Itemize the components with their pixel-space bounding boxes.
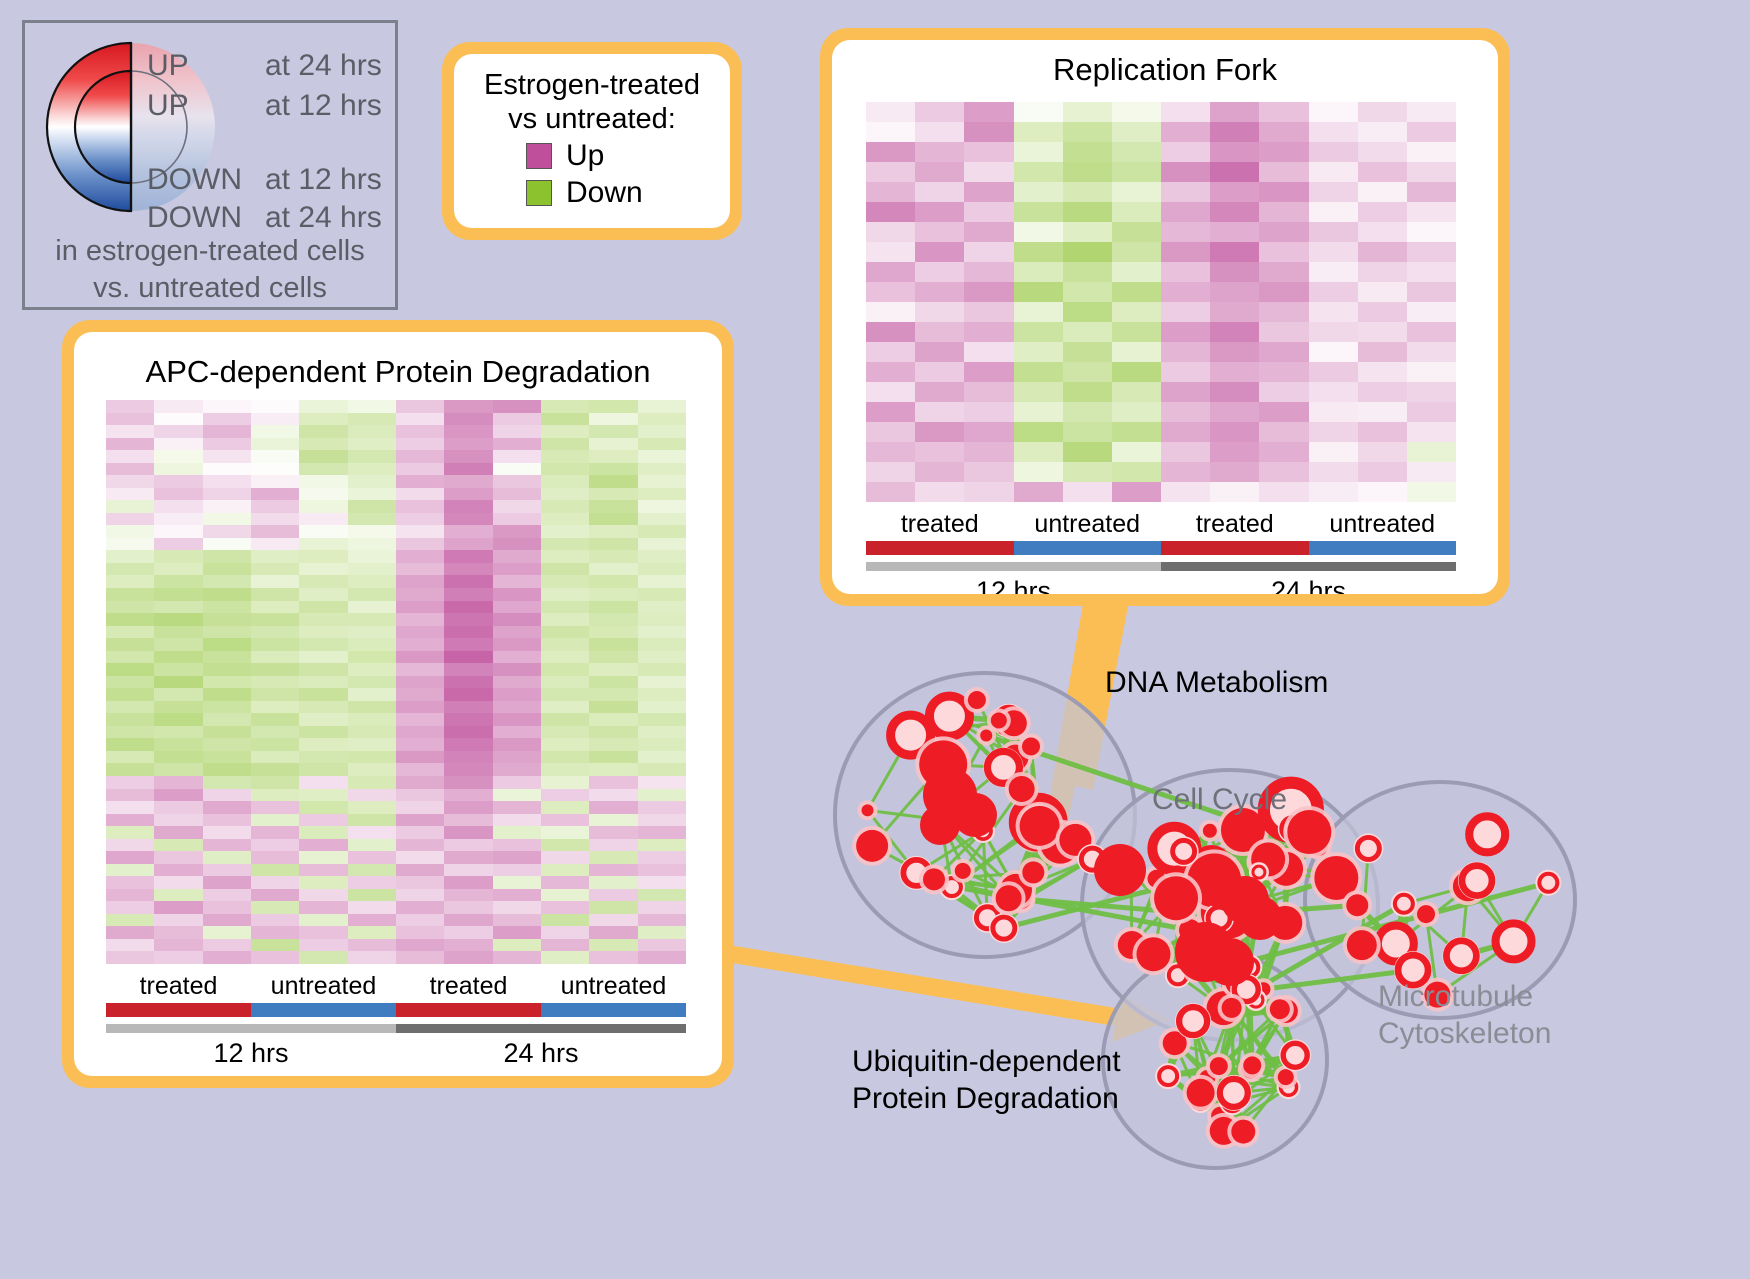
heatmap-cell [493,463,541,476]
heatmap-cell [493,575,541,588]
heatmap-cell [1014,442,1063,462]
heatmap-cell [299,676,347,689]
heatmap-cell [444,663,492,676]
heatmap-cell [1309,122,1358,142]
heatmap-cell [154,651,202,664]
network-node [923,868,945,890]
heatmap-cell [1407,142,1456,162]
heatmap-cell [106,450,154,463]
heatmap-cell [638,939,686,952]
heatmap-cell [915,102,964,122]
heatmap-cell [348,926,396,939]
heatmap-cell [638,438,686,451]
heatmap-cell [866,242,915,262]
network-node [1136,937,1170,971]
heatmap-cell [1358,122,1407,142]
heatmap-cell [1161,282,1210,302]
heatmap-cell [589,663,637,676]
heatmap-cell [541,801,589,814]
heatmap-cell [1309,222,1358,242]
heatmap-cell [541,626,589,639]
heatmap-cell [589,789,637,802]
heatmap-cell [1407,182,1456,202]
heatmap-cell [493,488,541,501]
heatmap-cell [348,588,396,601]
network-node [1347,930,1377,960]
heatmap-cell [106,651,154,664]
heatmap-cell [541,500,589,513]
heatmap-cell [541,425,589,438]
heatmap-cell [1112,482,1161,502]
heatmap-cell [638,413,686,426]
heatmap-cell [638,713,686,726]
heatmap-cell [396,814,444,827]
heatmap-cell [1407,122,1456,142]
heatmap-cell [251,525,299,538]
heatmap-cell [299,726,347,739]
heatmap-cell [1063,342,1112,362]
heatmap-cell [1309,262,1358,282]
heatmap-cell [203,651,251,664]
heatmap-cell [396,801,444,814]
heatmap-cell [866,102,915,122]
heatmap-cell [1014,102,1063,122]
heatmap-cell [396,425,444,438]
heatmap-cell [638,951,686,964]
heatmap-cell [203,876,251,889]
heatmap-cell [964,122,1013,142]
heatmap-cell [106,438,154,451]
heatmap-cell [251,939,299,952]
heatmap-cell [106,738,154,751]
heatmap-cell [396,575,444,588]
heatmap-cell [299,588,347,601]
heatmap-cell [299,776,347,789]
heatmap-cell [541,951,589,964]
heatmap-cell [251,601,299,614]
heatmap-cell [348,951,396,964]
heatmap-cell [1259,322,1308,342]
heatmap-cell [203,425,251,438]
heatmap-cell [106,575,154,588]
heatmap-cell [964,222,1013,242]
heatmap-cell [203,438,251,451]
heatmap-cell [203,613,251,626]
heatmap-cell [964,262,1013,282]
replication-fork-time-bars [866,562,1456,571]
heatmap-cell [493,826,541,839]
heatmap-cell [106,751,154,764]
down-label: Down [566,176,643,210]
heatmap-cell [299,751,347,764]
heatmap-cell [106,626,154,639]
heatmap-cell [203,475,251,488]
heatmap-cell [251,463,299,476]
heatmap-cell [396,400,444,413]
heatmap-cell [541,475,589,488]
group-bar-treated-24 [1161,541,1309,555]
heatmap-cell [493,713,541,726]
heatmap-cell [493,425,541,438]
key-title-line1: Estrogen-treated [454,68,730,102]
heatmap-cell [203,839,251,852]
heatmap-cell [493,776,541,789]
heatmap-cell [203,926,251,939]
heatmap-cell [1407,202,1456,222]
heatmap-cell [541,851,589,864]
heatmap-cell [1259,162,1308,182]
heatmap-cell [203,550,251,563]
heatmap-cell [203,450,251,463]
heatmap-cell [493,588,541,601]
heatmap-cell [348,575,396,588]
heatmap-cell [1014,262,1063,282]
network-node [1346,894,1368,916]
group-label: untreated [251,972,396,1001]
heatmap-cell [251,488,299,501]
heatmap-cell [444,876,492,889]
heatmap-cell [541,839,589,852]
heatmap-cell [866,222,915,242]
heatmap-cell [493,638,541,651]
group-label: untreated [1309,510,1457,539]
heatmap-cell [493,626,541,639]
heatmap-cell [106,550,154,563]
heatmap-cell [396,413,444,426]
heatmap-cell [203,676,251,689]
heatmap-cell [1112,242,1161,262]
group-bar-treated-12 [866,541,1014,555]
heatmap-cell [348,851,396,864]
heatmap-cell [1309,482,1358,502]
heatmap-cell [493,889,541,902]
heatmap-cell [1358,322,1407,342]
replication-fork-group-bars [866,541,1456,555]
key-item-up: Up [526,139,730,173]
heatmap-cell [106,826,154,839]
heatmap-cell [1161,182,1210,202]
heatmap-cell [251,676,299,689]
network-node [1243,1056,1261,1074]
heatmap-cell [348,914,396,927]
heatmap-cell [1112,102,1161,122]
heatmap-cell [1014,302,1063,322]
heatmap-cell [541,926,589,939]
heatmap-cell [1161,322,1210,342]
heatmap-cell [541,488,589,501]
heatmap-cell [444,738,492,751]
heatmap-cell [444,864,492,877]
heatmap-cell [203,763,251,776]
heatmap-cell [638,613,686,626]
heatmap-cell [1358,342,1407,362]
heatmap-cell [348,789,396,802]
cluster-label-dna-metabolism: DNA Metabolism [1105,665,1328,702]
heatmap-cell [1358,302,1407,322]
heatmap-cell [1112,122,1161,142]
heatmap-cell [251,814,299,827]
heatmap-cell [396,701,444,714]
heatmap-cell [444,701,492,714]
heatmap-cell [638,538,686,551]
heatmap-cell [589,500,637,513]
heatmap-cell [396,438,444,451]
heatmap-cell [444,789,492,802]
heatmap-cell [348,901,396,914]
network-node [1022,861,1044,883]
heatmap-cell [493,751,541,764]
heatmap-cell [1259,122,1308,142]
heatmap-cell [964,242,1013,262]
heatmap-cell [299,814,347,827]
heatmap-cell [1161,382,1210,402]
heatmap-cell [154,738,202,751]
heatmap-cell [493,651,541,664]
heatmap-cell [541,400,589,413]
heatmap-cell [493,400,541,413]
heatmap-cell [1407,362,1456,382]
heatmap-cell [589,563,637,576]
heatmap-cell [106,839,154,852]
heatmap-cell [251,538,299,551]
heatmap-cell [348,488,396,501]
legend-key-up-24: UP [147,49,265,83]
heatmap-cell [589,776,637,789]
heatmap-cell [1407,402,1456,422]
heatmap-cell [154,839,202,852]
heatmap-cell [396,676,444,689]
heatmap-cell [1014,162,1063,182]
heatmap-cell [1063,362,1112,382]
legend-row-up-24: UPat 24 hrs [147,49,382,83]
heatmap-cell [154,538,202,551]
heatmap-cell [203,463,251,476]
heatmap-cell [866,442,915,462]
heatmap-cell [106,563,154,576]
heatmap-cell [106,676,154,689]
heatmap-cell [251,688,299,701]
heatmap-cell [541,638,589,651]
heatmap-cell [915,362,964,382]
heatmap-cell [154,575,202,588]
heatmap-cell [154,789,202,802]
heatmap-cell [1407,282,1456,302]
heatmap-cell [203,814,251,827]
heatmap-cell [589,413,637,426]
heatmap-cell [1309,402,1358,422]
heatmap-cell [299,651,347,664]
up-label: Up [566,139,604,173]
heatmap-cell [203,601,251,614]
heatmap-cell [106,701,154,714]
heatmap-cell [493,814,541,827]
group-bar-untreated-12 [251,1003,396,1017]
heatmap-cell [444,463,492,476]
key-title-line2: vs untreated: [454,102,730,136]
heatmap-cell [541,726,589,739]
heatmap-cell [866,462,915,482]
heatmap-cell [444,839,492,852]
heatmap-cell [299,914,347,927]
legend-time-up-12: at 12 hrs [265,89,382,122]
heatmap-cell [1358,362,1407,382]
heatmap-cell [154,889,202,902]
heatmap-cell [299,713,347,726]
heatmap-cell [348,776,396,789]
time-bar-12hrs [106,1024,396,1033]
heatmap-cell [493,864,541,877]
heatmap-cell [203,663,251,676]
heatmap-cell [251,701,299,714]
heatmap-cell [348,613,396,626]
heatmap-cell [299,826,347,839]
heatmap-cell [1407,422,1456,442]
heatmap-cell [964,482,1013,502]
heatmap-cell [493,525,541,538]
heatmap-cell [299,538,347,551]
heatmap-cell [396,851,444,864]
heatmap-cell [638,726,686,739]
heatmap-cell [541,826,589,839]
heatmap-cell [1358,142,1407,162]
network-node [1009,776,1035,802]
heatmap-cell [396,513,444,526]
heatmap-cell [915,422,964,442]
heatmap-cell [299,400,347,413]
heatmap-cell [1210,262,1259,282]
heatmap-cell [493,413,541,426]
heatmap-cell [541,525,589,538]
heatmap-cell [1309,142,1358,162]
heatmap-cell [444,613,492,626]
heatmap-cell [154,413,202,426]
heatmap-cell [589,425,637,438]
heatmap-cell [106,914,154,927]
heatmap-cell [251,864,299,877]
network-node [980,730,992,742]
heatmap-cell [589,876,637,889]
heatmap-cell [1309,202,1358,222]
heatmap-cell [1407,302,1456,322]
heatmap-cell [106,951,154,964]
network-node-hub [1094,844,1146,896]
heatmap-cell [106,488,154,501]
network-node [1203,824,1217,838]
heatmap-cell [154,438,202,451]
replication-fork-heatmap [866,102,1456,502]
heatmap-cell [299,839,347,852]
heatmap-cell [1358,162,1407,182]
heatmap-cell [444,688,492,701]
legend-footer: in estrogen-treated cells vs. untreated … [25,233,395,307]
heatmap-cell [866,202,915,222]
heatmap-cell [1259,482,1308,502]
heatmap-cell [106,400,154,413]
heatmap-cell [638,914,686,927]
heatmap-cell [1014,202,1063,222]
heatmap-cell [1210,322,1259,342]
heatmap-cell [299,413,347,426]
time-bar-24hrs [1161,562,1456,571]
heatmap-cell [1259,182,1308,202]
heatmap-cell [493,676,541,689]
heatmap-cell [964,102,1013,122]
heatmap-cell [251,588,299,601]
heatmap-cell [203,713,251,726]
heatmap-cell [106,814,154,827]
heatmap-cell [541,914,589,927]
heatmap-cell [1112,202,1161,222]
heatmap-cell [638,776,686,789]
network-node-hub [1238,896,1282,940]
heatmap-cell [396,626,444,639]
heatmap-cell [1259,462,1308,482]
heatmap-cell [638,814,686,827]
heatmap-cell [1259,362,1308,382]
heatmap-cell [541,738,589,751]
heatmap-cell [1161,462,1210,482]
heatmap-cell [1112,382,1161,402]
heatmap-cell [348,538,396,551]
heatmap-cell [493,563,541,576]
heatmap-cell [915,202,964,222]
heatmap-cell [541,789,589,802]
ubiquitin-line2: Protein Degradation [852,1081,1121,1118]
heatmap-cell [203,513,251,526]
cluster-label-microtubule-cytoskeleton: Microtubule Cytoskeleton [1378,979,1551,1052]
heatmap-cell [396,538,444,551]
heatmap-cell [154,713,202,726]
heatmap-cell [106,688,154,701]
heatmap-cell [154,914,202,927]
heatmap-cell [251,751,299,764]
network-node [1287,810,1331,854]
heatmap-cell [106,926,154,939]
heatmap-cell [299,601,347,614]
heatmap-cell [444,651,492,664]
heatmap-cell [396,613,444,626]
heatmap-cell [444,525,492,538]
heatmap-cell [1309,362,1358,382]
heatmap-cell [1259,242,1308,262]
heatmap-cell [348,713,396,726]
heatmap-cell [541,751,589,764]
heatmap-cell [154,763,202,776]
heatmap-cell [106,525,154,538]
heatmap-cell [866,382,915,402]
heatmap-cell [638,450,686,463]
heatmap-cell [541,601,589,614]
heatmap-cell [541,939,589,952]
heatmap-cell [396,776,444,789]
heatmap-cell [589,626,637,639]
heatmap-cell [1407,482,1456,502]
heatmap-cell [493,701,541,714]
heatmap-cell [348,876,396,889]
heatmap-cell [1112,322,1161,342]
heatmap-cell [444,826,492,839]
heatmap-cell [915,262,964,282]
heatmap-cell [638,626,686,639]
heatmap-cell [1063,182,1112,202]
group-label: treated [106,972,251,1001]
heatmap-cell [1309,102,1358,122]
heatmap-cell [915,382,964,402]
heatmap-cell [866,142,915,162]
heatmap-cell [866,262,915,282]
heatmap-cell [638,663,686,676]
heatmap-cell [541,688,589,701]
